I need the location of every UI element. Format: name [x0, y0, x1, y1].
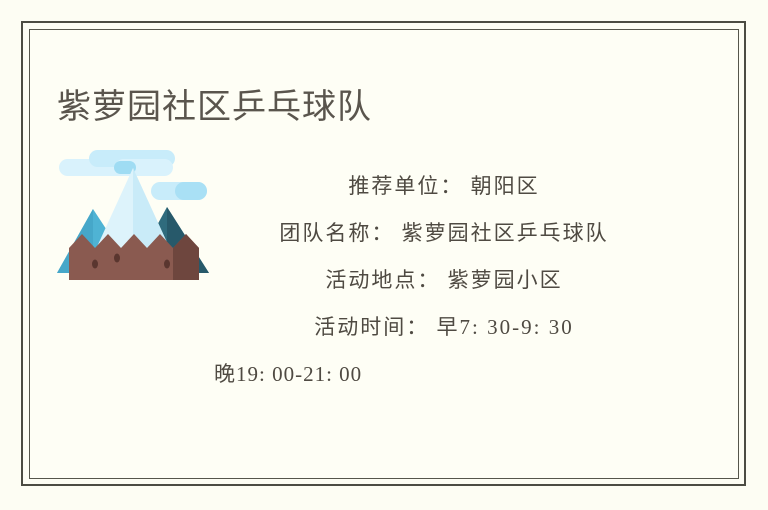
info-line-activity-location: 活动地点： 紫萝园小区: [214, 257, 674, 304]
page-title: 紫萝园社区乒乓球队: [57, 85, 372, 129]
info-line-activity-time-morning: 活动时间： 早7: 30-9: 30: [214, 304, 674, 351]
poster-page: 紫萝园社区乒乓球队: [0, 0, 768, 510]
info-line-team-name: 团队名称： 紫萝园社区乒乓球队: [214, 210, 674, 257]
mountain-landscape-icon: [57, 148, 209, 298]
team-info-block: 推荐单位： 朝阳区 团队名称： 紫萝园社区乒乓球队 活动地点： 紫萝园小区 活动…: [214, 163, 674, 398]
info-line-recommending-unit: 推荐单位： 朝阳区: [214, 163, 674, 210]
info-line-activity-time-evening: 晚19: 00-21: 00: [214, 351, 674, 398]
